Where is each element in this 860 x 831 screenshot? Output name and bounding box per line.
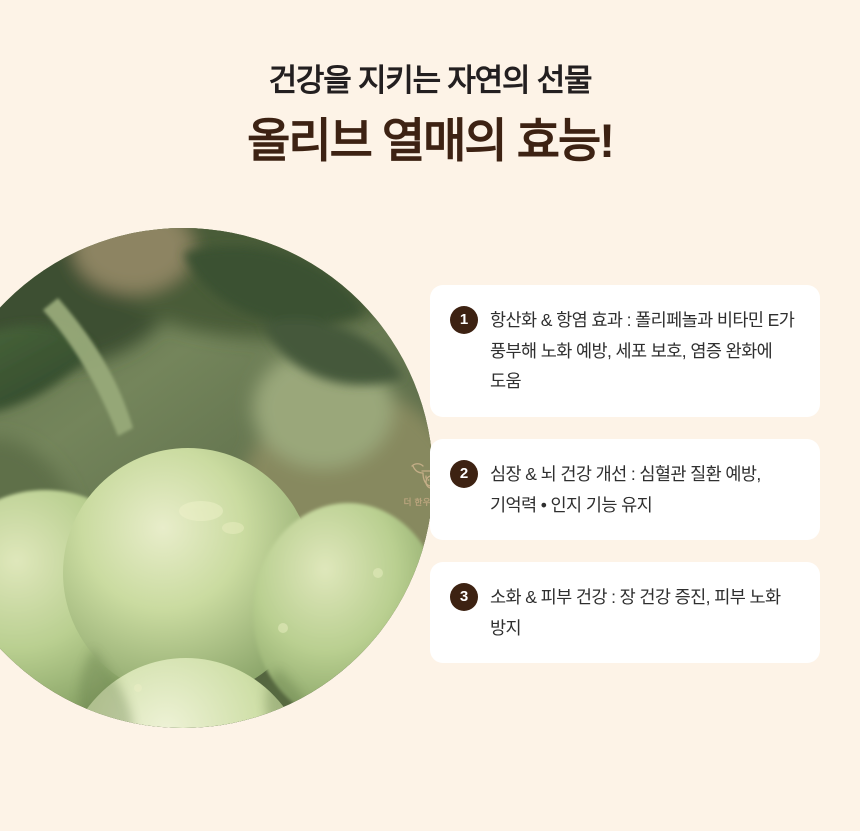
- page-title: 올리브 열매의 효능!: [0, 113, 860, 169]
- benefit-text: 항산화 & 항염 효과 : 폴리페놀과 비타민 E가 풍부해 노화 예방, 세포…: [490, 305, 798, 397]
- page-subtitle: 건강을 지키는 자연의 선물: [0, 62, 860, 101]
- benefit-text: 소화 & 피부 건강 : 장 건강 증진, 피부 노화 방지: [490, 582, 798, 643]
- benefit-card-2: 2 심장 & 뇌 건강 개선 : 심혈관 질환 예방, 기억력 • 인지 기능 …: [430, 439, 820, 540]
- benefit-number-badge: 3: [450, 583, 478, 611]
- benefit-number-badge: 2: [450, 460, 478, 488]
- benefit-number-badge: 1: [450, 306, 478, 334]
- heading-block: 건강을 지키는 자연의 선물 올리브 열매의 효능!: [0, 62, 860, 169]
- benefit-card-1: 1 항산화 & 항염 효과 : 폴리페놀과 비타민 E가 풍부해 노화 예방, …: [430, 285, 820, 417]
- benefit-text: 심장 & 뇌 건강 개선 : 심혈관 질환 예방, 기억력 • 인지 기능 유지: [490, 459, 798, 520]
- benefit-card-3: 3 소화 & 피부 건강 : 장 건강 증진, 피부 노화 방지: [430, 562, 820, 663]
- infographic-page: 건강을 지키는 자연의 선물 올리브 열매의 효능!: [0, 0, 860, 831]
- olive-fruit-photo: [0, 228, 433, 728]
- benefits-list: 1 항산화 & 항염 효과 : 폴리페놀과 비타민 E가 풍부해 노화 예방, …: [430, 285, 820, 663]
